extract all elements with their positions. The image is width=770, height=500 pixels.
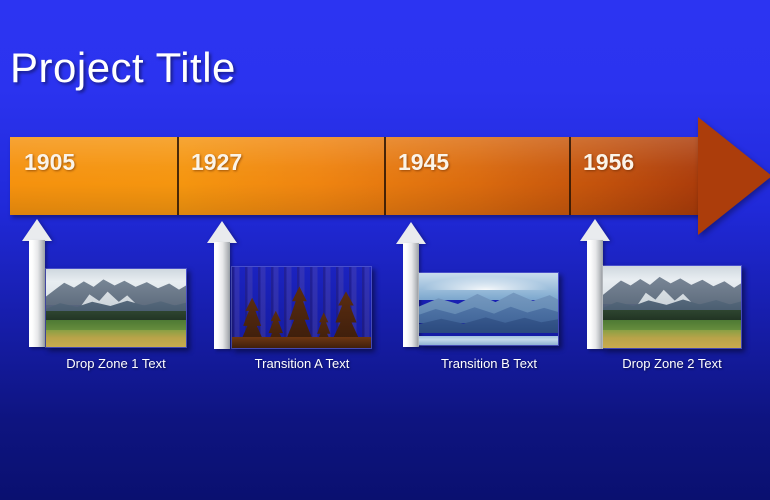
transition-a-image[interactable] — [231, 266, 372, 349]
drop-zone-1-caption: Drop Zone 1 Text — [25, 356, 207, 371]
segment-divider — [569, 137, 571, 215]
drop-zone-2-image[interactable] — [602, 265, 742, 349]
timeline-year-1945: 1945 — [398, 149, 449, 176]
transition-a-caption: Transition A Text — [211, 356, 393, 371]
timeline-year-1956: 1956 — [583, 149, 634, 176]
timeline-year-1927: 1927 — [191, 149, 242, 176]
drop-zone-2-caption: Drop Zone 2 Text — [581, 356, 763, 371]
drop-zone-1-image[interactable] — [45, 268, 187, 348]
transition-b-image[interactable] — [418, 272, 559, 346]
timeline-bar: 1905 1927 1945 1956 — [10, 137, 762, 215]
page-title: Project Title — [10, 44, 236, 92]
transition-b-caption: Transition B Text — [398, 356, 580, 371]
timeline-arrowhead-icon — [698, 117, 770, 235]
timeline-slide: Project Title 1905 1927 1945 1956 Drop Z… — [0, 0, 770, 500]
timeline-year-1905: 1905 — [24, 149, 75, 176]
segment-divider — [384, 137, 386, 215]
segment-divider — [177, 137, 179, 215]
